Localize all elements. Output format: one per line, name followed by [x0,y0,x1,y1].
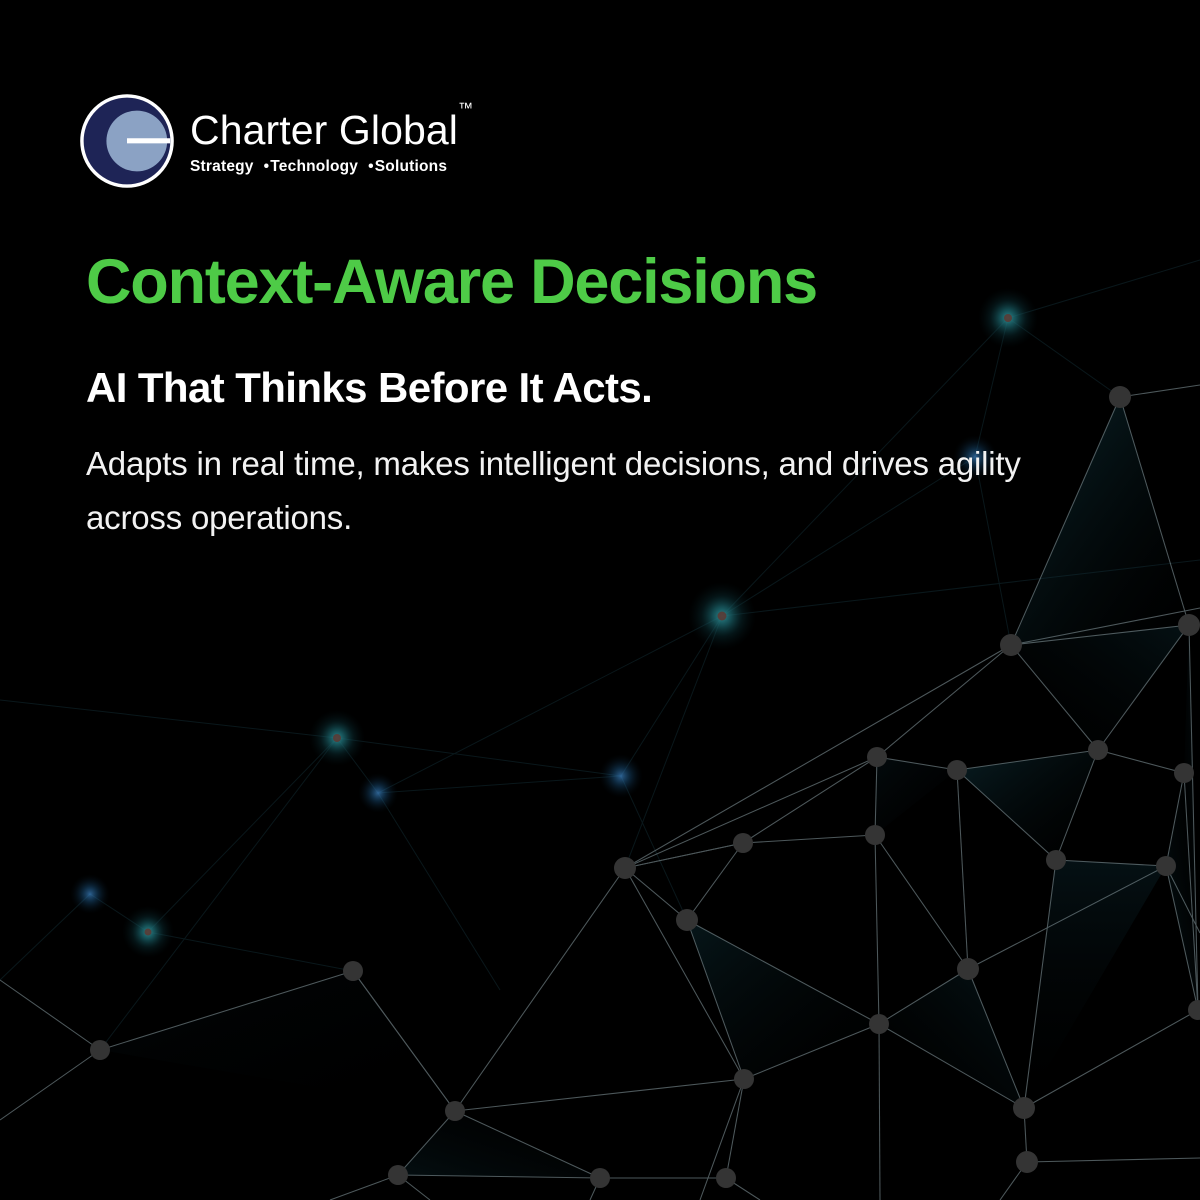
brand-logo-text: Charter Global™ Strategy •Technology •So… [190,106,473,176]
brand-wordmark: Charter Global™ [190,110,473,151]
brand-logo[interactable]: Charter Global™ Strategy •Technology •So… [78,92,473,190]
brand-tagline: Strategy •Technology •Solutions [190,158,447,176]
tagline-technology: Technology [270,158,358,175]
promo-graphic-canvas: Charter Global™ Strategy •Technology •So… [0,0,1200,1200]
headline: Context-Aware Decisions [86,248,1046,316]
tagline-strategy: Strategy [190,158,254,175]
charter-global-circle-logo-icon [78,92,176,190]
copy-block: Context-Aware Decisions AI That Thinks B… [86,248,1046,544]
brand-wordmark-text: Charter Global [190,107,458,153]
subheadline: AI That Thinks Before It Acts. [86,316,1046,411]
trademark-symbol: ™ [458,100,473,117]
body-paragraph: Adapts in real time, makes intelligent d… [86,411,1031,544]
tagline-solutions: Solutions [375,158,447,175]
tagline-separator-2: • [367,158,375,175]
